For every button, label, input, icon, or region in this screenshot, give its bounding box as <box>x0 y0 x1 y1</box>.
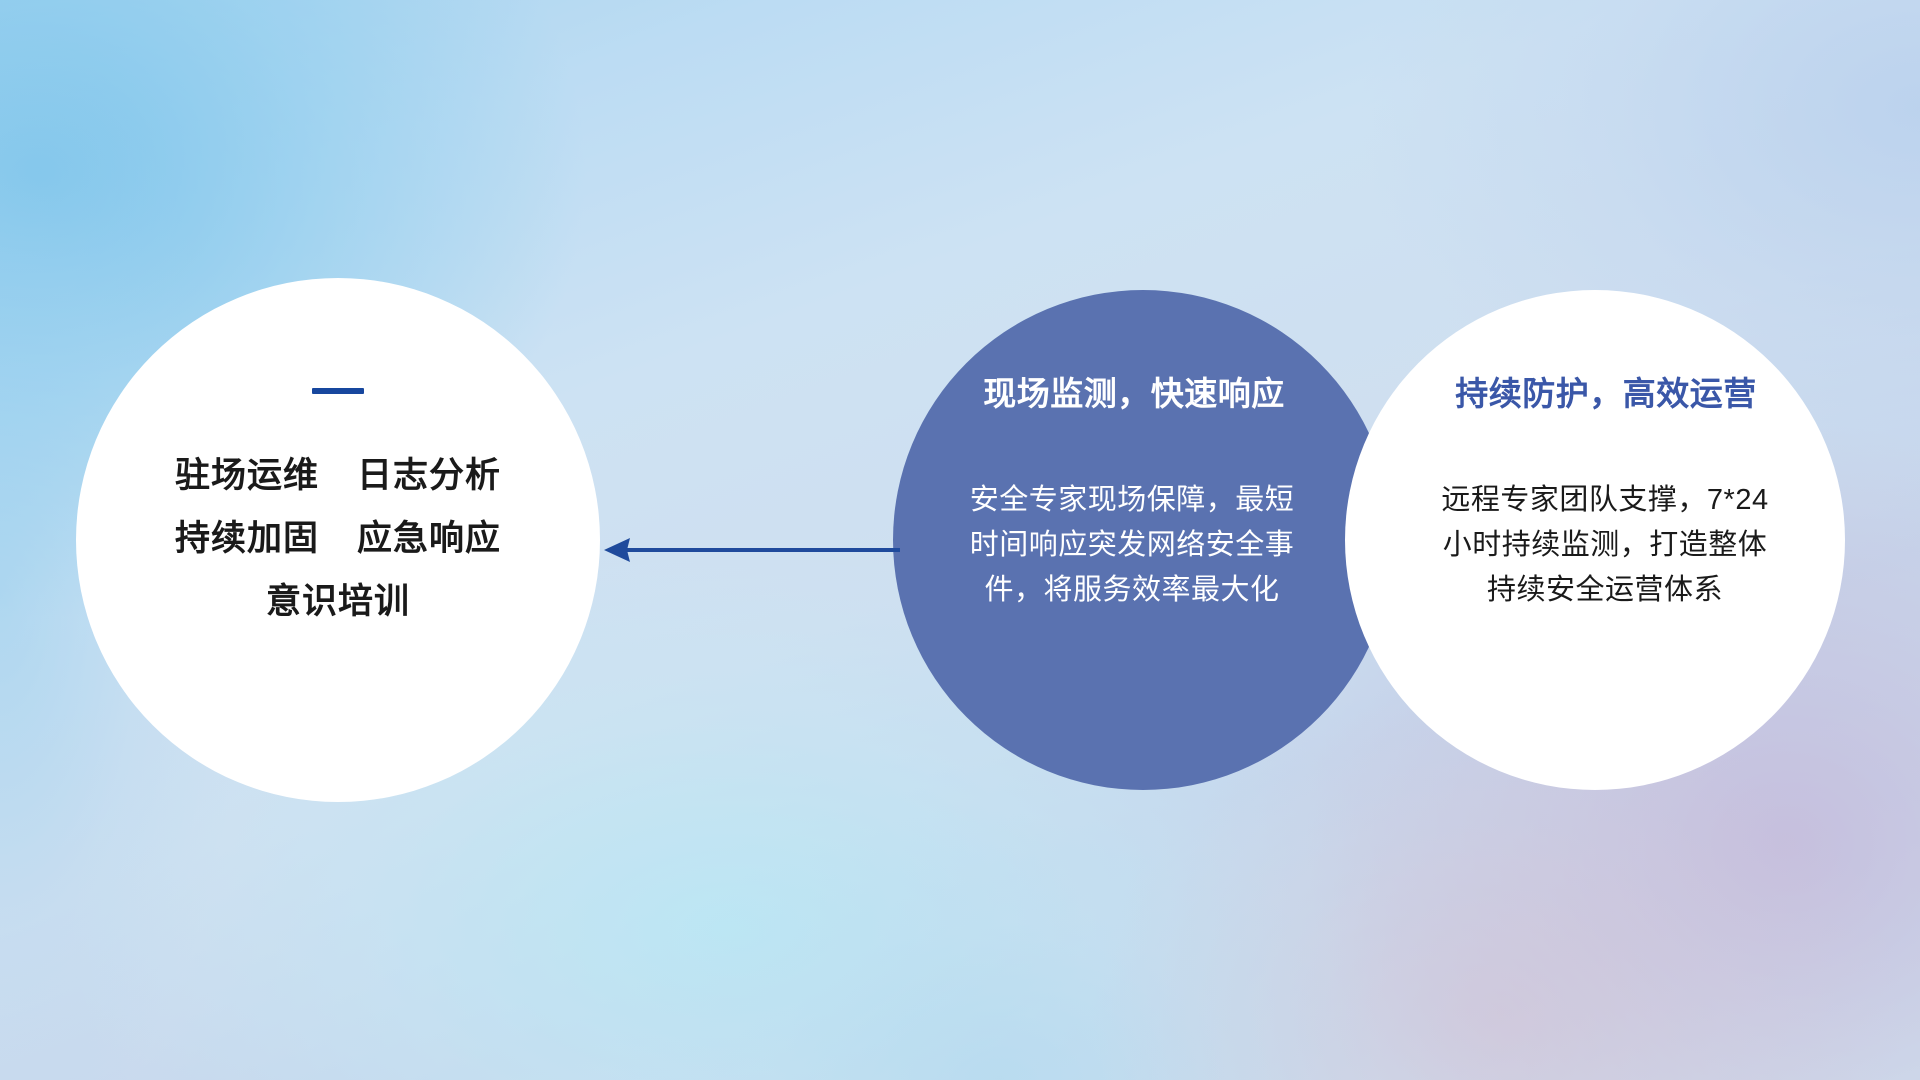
slide-canvas: 驻场运维 日志分析 持续加固 应急响应 意识培训 现场监测，快速响应 安全专家现… <box>0 0 1920 1080</box>
onsite-monitoring-circle: 现场监测，快速响应 安全专家现场保障，最短时间响应突发网络安全事件，将服务效率最… <box>893 290 1393 790</box>
onsite-monitoring-title: 现场监测，快速响应 <box>983 376 1285 412</box>
capability-tag-row: 意识培训 <box>266 584 410 619</box>
arrow-left-icon <box>600 518 900 582</box>
onsite-monitoring-body: 安全专家现场保障，最短时间响应突发网络安全事件，将服务效率最大化 <box>967 478 1297 613</box>
capability-tag: 持续加固 <box>175 521 319 556</box>
capability-tag: 驻场运维 <box>175 458 319 493</box>
capability-tag-row: 驻场运维 日志分析 <box>175 458 501 493</box>
continuous-protection-circle: 持续防护，高效运营 远程专家团队支撑，7*24小时持续监测，打造整体持续安全运营… <box>1345 290 1845 790</box>
capability-tag-list: 驻场运维 日志分析 持续加固 应急响应 意识培训 <box>76 458 600 619</box>
capability-tag: 日志分析 <box>357 458 501 493</box>
continuous-protection-title: 持续防护，高效运营 <box>1455 376 1757 412</box>
divider-bar-icon <box>312 388 364 394</box>
continuous-protection-body: 远程专家团队支撑，7*24小时持续监测，打造整体持续安全运营体系 <box>1433 478 1777 613</box>
capability-tag-row: 持续加固 应急响应 <box>175 521 501 556</box>
capabilities-circle: 驻场运维 日志分析 持续加固 应急响应 意识培训 <box>76 278 600 802</box>
capability-tag: 意识培训 <box>266 584 410 619</box>
capability-tag: 应急响应 <box>357 521 501 556</box>
